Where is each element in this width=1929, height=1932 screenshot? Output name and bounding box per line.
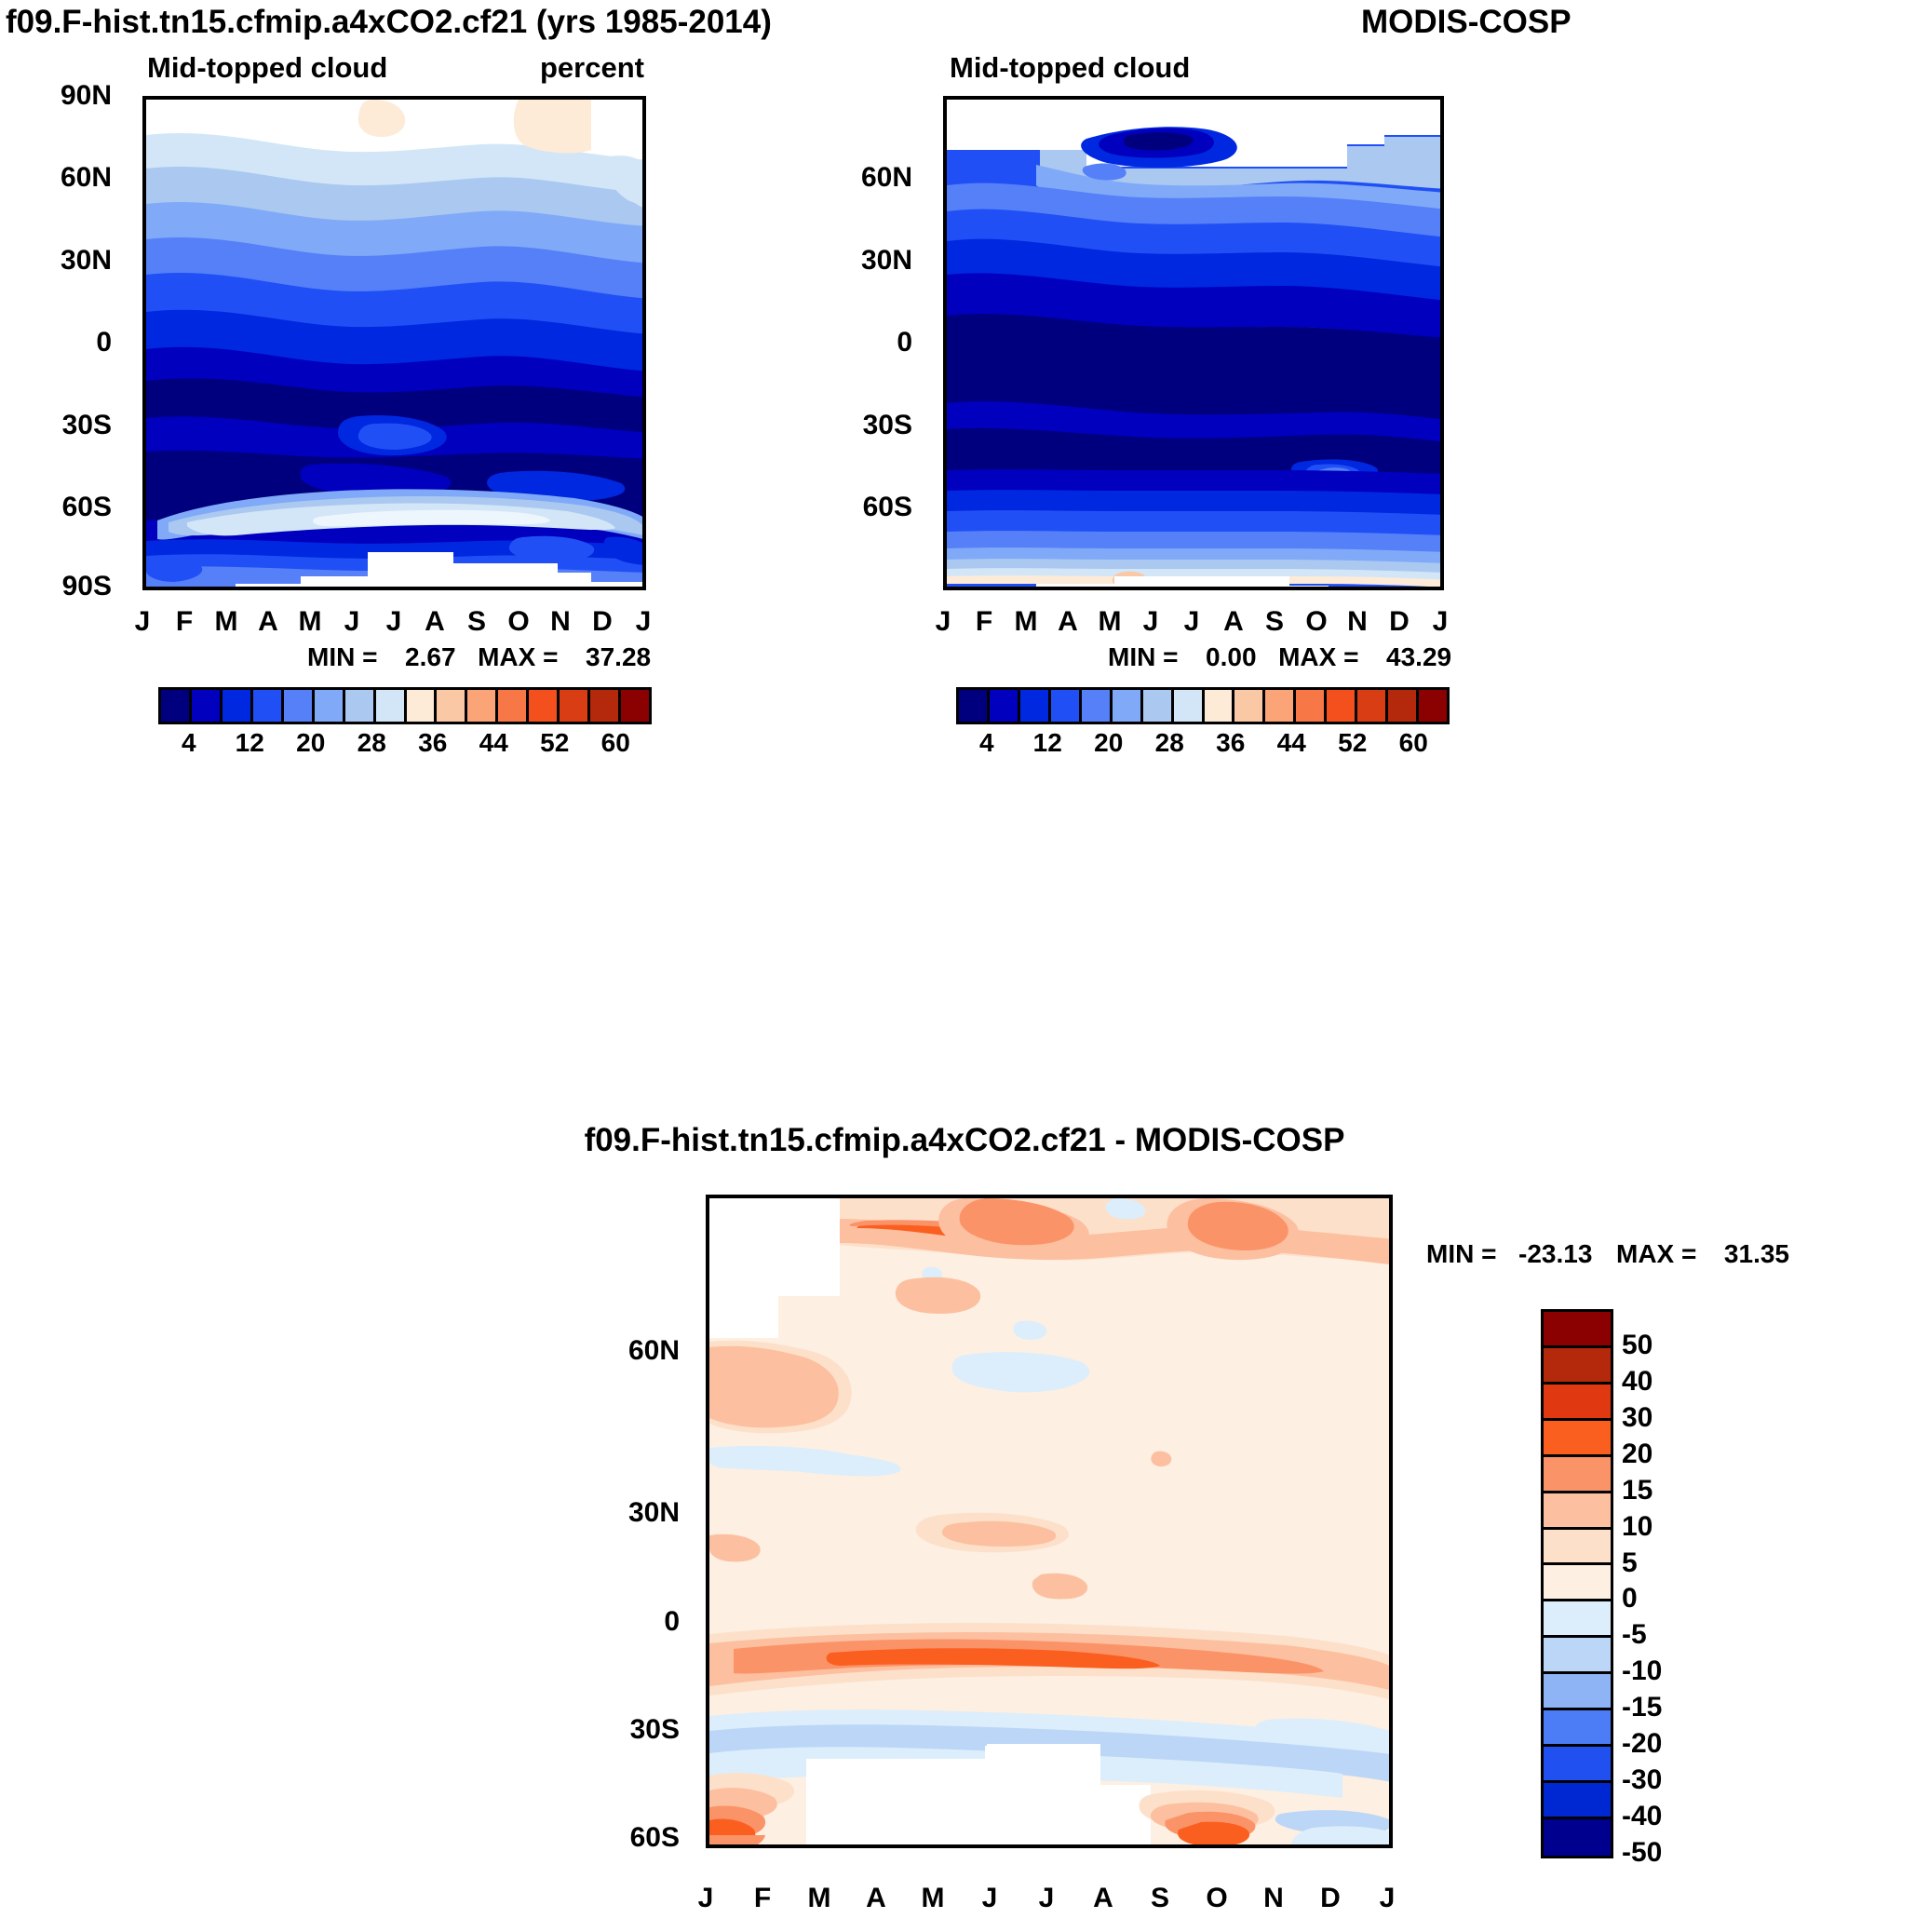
colorbar-swatch-13 [560,690,590,722]
obs-xtick-top-11 [1401,96,1405,100]
diff-xtick-top-11 [1331,1195,1335,1198]
ylabel-0: 0 [28,327,112,358]
obs-xtick-top-3 [1070,96,1073,100]
obs-xtick-top-7 [1235,96,1239,100]
ytick-minor-2 [142,222,146,225]
xlabel-11: D [592,606,613,638]
obs-ytick-60s [943,509,947,513]
diff-colorbar-tick-label-neg30: -30 [1622,1764,1662,1796]
colorbar-swatch-4 [284,690,315,722]
obs-ytick-60n [943,180,947,183]
colorbar-swatch-10 [1265,690,1296,722]
colorbar-tick-label-4: 4 [182,728,196,758]
colorbar-difference-labels: 50403020151050-5-10-15-20-30-40-50 [1622,1309,1733,1853]
colorbar-absolute-model[interactable] [158,687,652,724]
obs-xtick-top-2 [1028,96,1032,100]
diff-xtick-2 [820,1844,824,1848]
colorbar-swatch-12 [529,690,560,722]
diff-xtick-3 [877,1844,881,1848]
colorbar-swatch-1 [192,690,223,722]
xlabel-9: O [507,606,529,638]
obs-ytick-minor-7 [943,550,947,554]
obs-min-value: 0.00 [1206,642,1257,671]
xlabel-2: M [215,606,238,638]
colorbar-tick-label-28: 28 [357,728,386,758]
diff-ytick-0 [706,1626,709,1629]
xlabel-1: F [176,606,193,638]
obs-xlabel-3: A [1058,606,1078,638]
panel-model-title: f09.F-hist.tn15.cfmip.a4xCO2.cf21 (yrs 1… [6,4,772,41]
xlabel-10: N [550,606,571,638]
obs-xtick-4 [1112,587,1115,590]
obs-xtick-top-5 [1153,96,1156,100]
colorbar-swatch-4 [1082,690,1113,722]
ytick-30s [142,427,146,431]
diff-xtick-top-2 [820,1195,824,1198]
diff-ytick-60n [706,1355,709,1358]
colorbar-swatch-3 [253,690,284,722]
obs-xtick-10 [1359,587,1363,590]
xlabel-6: J [386,606,402,638]
diff-colorbar-tick-label-20: 20 [1622,1439,1652,1470]
obs-ytick-minor-6 [943,468,947,472]
xtick-10 [561,587,565,590]
diff-ytick-minor-6 [706,1788,709,1791]
colorbar-tick-label-60: 60 [601,728,630,758]
ylabel-90n: 90N [28,80,112,112]
colorbar-swatch-2 [1020,690,1051,722]
ytick-minor-5 [142,385,146,389]
obs-xlabel-4: M [1099,606,1122,638]
diff-colorbar-tick-label-5: 5 [1622,1547,1638,1579]
diff-xlabel-4: M [922,1883,945,1914]
xtick-top-0 [144,96,148,100]
diff-xtick-1 [763,1844,767,1848]
diff-xtick-top-4 [934,1195,938,1198]
xtick-3 [269,587,273,590]
xtick-top-6 [395,96,398,100]
panel-difference-contour-svg [709,1198,1389,1844]
colorbar-absolute-model-labels: 412202836445260 [158,728,646,760]
obs-xtick-3 [1070,587,1073,590]
colorbar-swatch-0 [161,690,192,722]
diff-xlabel-8: S [1151,1883,1169,1914]
diff-colorbar-swatch-14 [1544,1819,1611,1856]
diff-ylabel-0: 0 [587,1606,680,1638]
panel-obs-contour-field [947,100,1440,587]
diff-xtick-8 [1161,1844,1165,1848]
diff-colorbar-swatch-3 [1544,1421,1611,1457]
panel-obs-plot-area [943,96,1444,590]
obs-xtick-top-1 [986,96,990,100]
ytick-60n [142,180,146,183]
diff-ytick-minor-1 [706,1301,709,1304]
obs-max-label: MAX = [1278,642,1358,671]
colorbar-tick-label-4: 4 [979,728,994,758]
diff-colorbar-swatch-8 [1544,1601,1611,1638]
diff-xlabel-3: A [866,1883,886,1914]
xlabel-3: A [258,606,278,638]
diff-xtick-10 [1275,1844,1278,1848]
obs-xlabel-9: O [1305,606,1327,638]
panel-obs-subtitle-left: Mid-topped cloud [950,51,1190,85]
panel-obs-title: MODIS-COSP [1361,4,1572,41]
model-max-value: 37.28 [586,642,651,671]
colorbar-tick-label-52: 52 [540,728,569,758]
xtick-top-9 [519,96,523,100]
colorbar-tick-label-44: 44 [1277,728,1306,758]
xtick-top-3 [269,96,273,100]
diff-colorbar-swatch-11 [1544,1710,1611,1747]
xlabel-5: J [344,606,360,638]
diff-ytick-minor-4 [706,1571,709,1574]
xtick-top-4 [311,96,315,100]
diff-colorbar-swatch-7 [1544,1565,1611,1601]
xtick-5 [353,587,357,590]
diff-colorbar-tick-label-neg20: -20 [1622,1728,1662,1760]
diff-colorbar-swatch-9 [1544,1638,1611,1674]
colorbar-swatch-6 [345,690,376,722]
xtick-top-11 [603,96,607,100]
xtick-top-12 [644,96,646,100]
diff-xtick-top-7 [1104,1195,1108,1198]
diff-xtick-top-12 [1389,1195,1393,1198]
diff-colorbar-swatch-0 [1544,1312,1611,1348]
diff-colorbar-tick-label-neg15: -15 [1622,1692,1662,1723]
colorbar-tick-label-12: 12 [236,728,264,758]
colorbar-difference[interactable] [1541,1309,1613,1858]
diff-xtick-9 [1218,1844,1221,1848]
diff-xtick-top-0 [708,1195,711,1198]
diff-colorbar-swatch-4 [1544,1457,1611,1493]
diff-xtick-top-9 [1218,1195,1221,1198]
diff-ytick-minor-0 [706,1247,709,1250]
obs-ylabel-60s: 60S [829,492,912,523]
obs-xtick-2 [1028,587,1032,590]
obs-xtick-12 [1442,587,1444,590]
xtick-6 [395,587,398,590]
colorbar-swatch-14 [1388,690,1419,722]
obs-ylabel-30s: 30S [829,410,912,441]
colorbar-swatch-6 [1143,690,1174,722]
ytick-0 [142,345,146,348]
diff-xtick-top-1 [763,1195,767,1198]
obs-ytick-minor-4 [943,304,947,307]
diff-colorbar-tick-label-neg5: -5 [1622,1619,1647,1651]
diff-xtick-top-10 [1275,1195,1278,1198]
ylabel-30s: 30S [28,410,112,441]
diff-ylabel-60s: 60S [587,1822,680,1854]
colorbar-swatch-9 [437,690,467,722]
obs-xlabel-11: D [1389,606,1410,638]
diff-colorbar-tick-label-neg40: -40 [1622,1801,1662,1832]
obs-xtick-7 [1235,587,1239,590]
xtick-11 [603,587,607,590]
panel-model-subtitle-right: percent [540,51,644,85]
diff-ylabel-30s: 30S [587,1714,680,1746]
panel-model-contour-svg [146,100,642,587]
ytick-90n [142,98,146,101]
obs-xtick-6 [1194,587,1197,590]
xtick-2 [227,587,231,590]
diff-xlabel-5: J [982,1883,998,1914]
obs-ytick-minor-0 [943,141,947,144]
ytick-minor-0 [142,141,146,144]
diff-ylabel-60n: 60N [587,1335,680,1367]
diff-xtick-7 [1104,1844,1108,1848]
xtick-4 [311,587,315,590]
diff-min-label: MIN = [1426,1239,1496,1268]
obs-xtick-top-9 [1318,96,1322,100]
diff-ytick-minor-3 [706,1463,709,1466]
diff-colorbar-swatch-12 [1544,1747,1611,1783]
obs-xtick-9 [1318,587,1322,590]
diff-colorbar-tick-label-30: 30 [1622,1402,1652,1434]
obs-xtick-top-10 [1359,96,1363,100]
obs-xlabel-12: J [1433,606,1449,638]
obs-xtick-top-4 [1112,96,1115,100]
diff-xlabel-11: D [1320,1883,1341,1914]
diff-xtick-6 [1047,1844,1051,1848]
diff-ylabel-30n: 30N [587,1497,680,1529]
obs-max-value: 43.29 [1386,642,1451,671]
colorbar-swatch-7 [376,690,407,722]
diff-xlabel-2: M [808,1883,831,1914]
obs-xtick-top-12 [1442,96,1444,100]
obs-ytick-30n [943,263,947,266]
diff-xlabel-7: A [1093,1883,1113,1914]
obs-xtick-11 [1401,587,1405,590]
diff-xtick-top-3 [877,1195,881,1198]
diff-xtick-top-8 [1161,1195,1165,1198]
diff-xlabel-9: O [1206,1883,1227,1914]
colorbar-swatch-8 [1205,690,1235,722]
colorbar-absolute-obs[interactable] [956,687,1450,724]
xtick-top-8 [478,96,481,100]
diff-ytick-30s [706,1734,709,1737]
ylabel-30n: 30N [28,245,112,277]
xlabel-4: M [299,606,322,638]
obs-ytick-minor-2 [943,222,947,225]
colorbar-tick-label-28: 28 [1155,728,1184,758]
diff-xtick-top-6 [1047,1195,1051,1198]
obs-ytick-30s [943,427,947,431]
colorbar-swatch-5 [1113,690,1143,722]
diff-xtick-0 [708,1844,711,1848]
colorbar-swatch-15 [1419,690,1447,722]
panel-difference-contour-field [709,1198,1389,1844]
colorbar-tick-label-20: 20 [296,728,325,758]
colorbar-tick-label-36: 36 [1216,728,1245,758]
colorbar-swatch-10 [467,690,498,722]
diff-xlabel-0: J [698,1883,714,1914]
diff-colorbar-swatch-5 [1544,1493,1611,1530]
diff-ytick-minor-5 [706,1680,709,1683]
diff-colorbar-swatch-10 [1544,1674,1611,1710]
diff-colorbar-tick-label-50: 50 [1622,1330,1652,1361]
panel-model-plot-area [142,96,646,590]
obs-xlabel-6: J [1184,606,1200,638]
obs-xtick-top-0 [945,96,949,100]
obs-ylabel-0: 0 [829,327,912,358]
obs-xtick-top-6 [1194,96,1197,100]
ylabel-60s: 60S [28,492,112,523]
obs-ytick-0 [943,345,947,348]
obs-xtick-0 [945,587,949,590]
xtick-12 [644,587,646,590]
colorbar-tick-label-52: 52 [1338,728,1367,758]
obs-xlabel-5: J [1143,606,1159,638]
ytick-30n [142,263,146,266]
obs-ylabel-30n: 30N [829,245,912,277]
xtick-7 [436,587,439,590]
obs-xlabel-2: M [1015,606,1038,638]
xtick-8 [478,587,481,590]
panel-model-contour-field [146,100,642,587]
colorbar-swatch-8 [407,690,438,722]
colorbar-swatch-12 [1327,690,1357,722]
diff-colorbar-tick-label-0: 0 [1622,1583,1638,1615]
model-min-label: MIN = [307,642,377,671]
colorbar-tick-label-36: 36 [418,728,447,758]
obs-xlabel-10: N [1347,606,1368,638]
diff-max-label: MAX = [1616,1239,1696,1268]
colorbar-swatch-2 [223,690,253,722]
colorbar-swatch-0 [959,690,990,722]
obs-xtick-8 [1276,587,1280,590]
diff-colorbar-tick-label-15: 15 [1622,1475,1652,1506]
model-max-label: MAX = [478,642,558,671]
panel-model-subtitle-left: Mid-topped cloud [147,51,387,85]
diff-colorbar-swatch-2 [1544,1385,1611,1421]
diff-xlabel-6: J [1039,1883,1055,1914]
obs-xlabel-7: A [1223,606,1244,638]
colorbar-absolute-obs-labels: 412202836445260 [956,728,1444,760]
diff-colorbar-tick-label-10: 10 [1622,1511,1652,1543]
xlabel-0: J [135,606,151,638]
obs-xlabel-8: S [1265,606,1284,638]
colorbar-swatch-9 [1234,690,1265,722]
diff-xlabel-12: J [1380,1883,1396,1914]
model-min-value: 2.67 [405,642,456,671]
ylabel-90s: 90S [28,571,112,602]
colorbar-swatch-3 [1051,690,1082,722]
obs-ylabel-60n: 60N [829,162,912,194]
xtick-top-7 [436,96,439,100]
xlabel-8: S [467,606,486,638]
xtick-0 [144,587,148,590]
colorbar-tick-label-44: 44 [479,728,508,758]
colorbar-swatch-11 [498,690,529,722]
diff-colorbar-tick-label-neg10: -10 [1622,1655,1662,1687]
diff-xtick-11 [1331,1844,1335,1848]
obs-xlabel-1: F [976,606,992,638]
diff-xlabel-1: F [754,1883,771,1914]
obs-min-label: MIN = [1108,642,1178,671]
ytick-60s [142,509,146,513]
obs-xtick-1 [986,587,990,590]
obs-ytick-90n [943,98,947,101]
xlabel-12: J [636,606,652,638]
obs-xtick-top-8 [1276,96,1280,100]
diff-min-value: -23.13 [1518,1239,1592,1268]
colorbar-swatch-11 [1296,690,1327,722]
panel-difference-title: f09.F-hist.tn15.cfmip.a4xCO2.cf21 - MODI… [0,1122,1929,1159]
colorbar-swatch-14 [590,690,621,722]
xlabel-7: A [425,606,445,638]
panel-obs-contour-svg [947,100,1440,587]
diff-max-value: 31.35 [1724,1239,1789,1268]
obs-ytick-minor-5 [943,385,947,389]
diff-xtick-12 [1389,1844,1393,1848]
xtick-top-10 [561,96,565,100]
diff-colorbar-swatch-1 [1544,1348,1611,1385]
obs-xtick-5 [1153,587,1156,590]
diff-ytick-30n [706,1517,709,1520]
xtick-top-5 [353,96,357,100]
panel-difference-plot-area [706,1195,1393,1848]
diff-xlabel-10: N [1263,1883,1284,1914]
obs-xlabel-0: J [936,606,951,638]
xtick-top-2 [227,96,231,100]
diff-xtick-top-5 [991,1195,994,1198]
ylabel-60n: 60N [28,162,112,194]
ytick-minor-7 [142,550,146,554]
colorbar-tick-label-60: 60 [1399,728,1428,758]
ytick-minor-4 [142,304,146,307]
diff-xtick-4 [934,1844,938,1848]
colorbar-swatch-5 [315,690,345,722]
xtick-top-1 [185,96,189,100]
diff-xtick-5 [991,1844,994,1848]
diff-colorbar-tick-label-neg50: -50 [1622,1837,1662,1869]
colorbar-swatch-7 [1174,690,1205,722]
diff-ytick-minor-2 [706,1409,709,1412]
colorbar-swatch-15 [621,690,649,722]
diff-colorbar-swatch-6 [1544,1530,1611,1566]
xtick-9 [519,587,523,590]
ytick-minor-6 [142,468,146,472]
diff-colorbar-swatch-13 [1544,1783,1611,1819]
xtick-1 [185,587,189,590]
colorbar-swatch-13 [1357,690,1388,722]
diff-colorbar-tick-label-40: 40 [1622,1366,1652,1398]
colorbar-tick-label-12: 12 [1033,728,1062,758]
colorbar-tick-label-20: 20 [1094,728,1123,758]
colorbar-swatch-1 [990,690,1020,722]
